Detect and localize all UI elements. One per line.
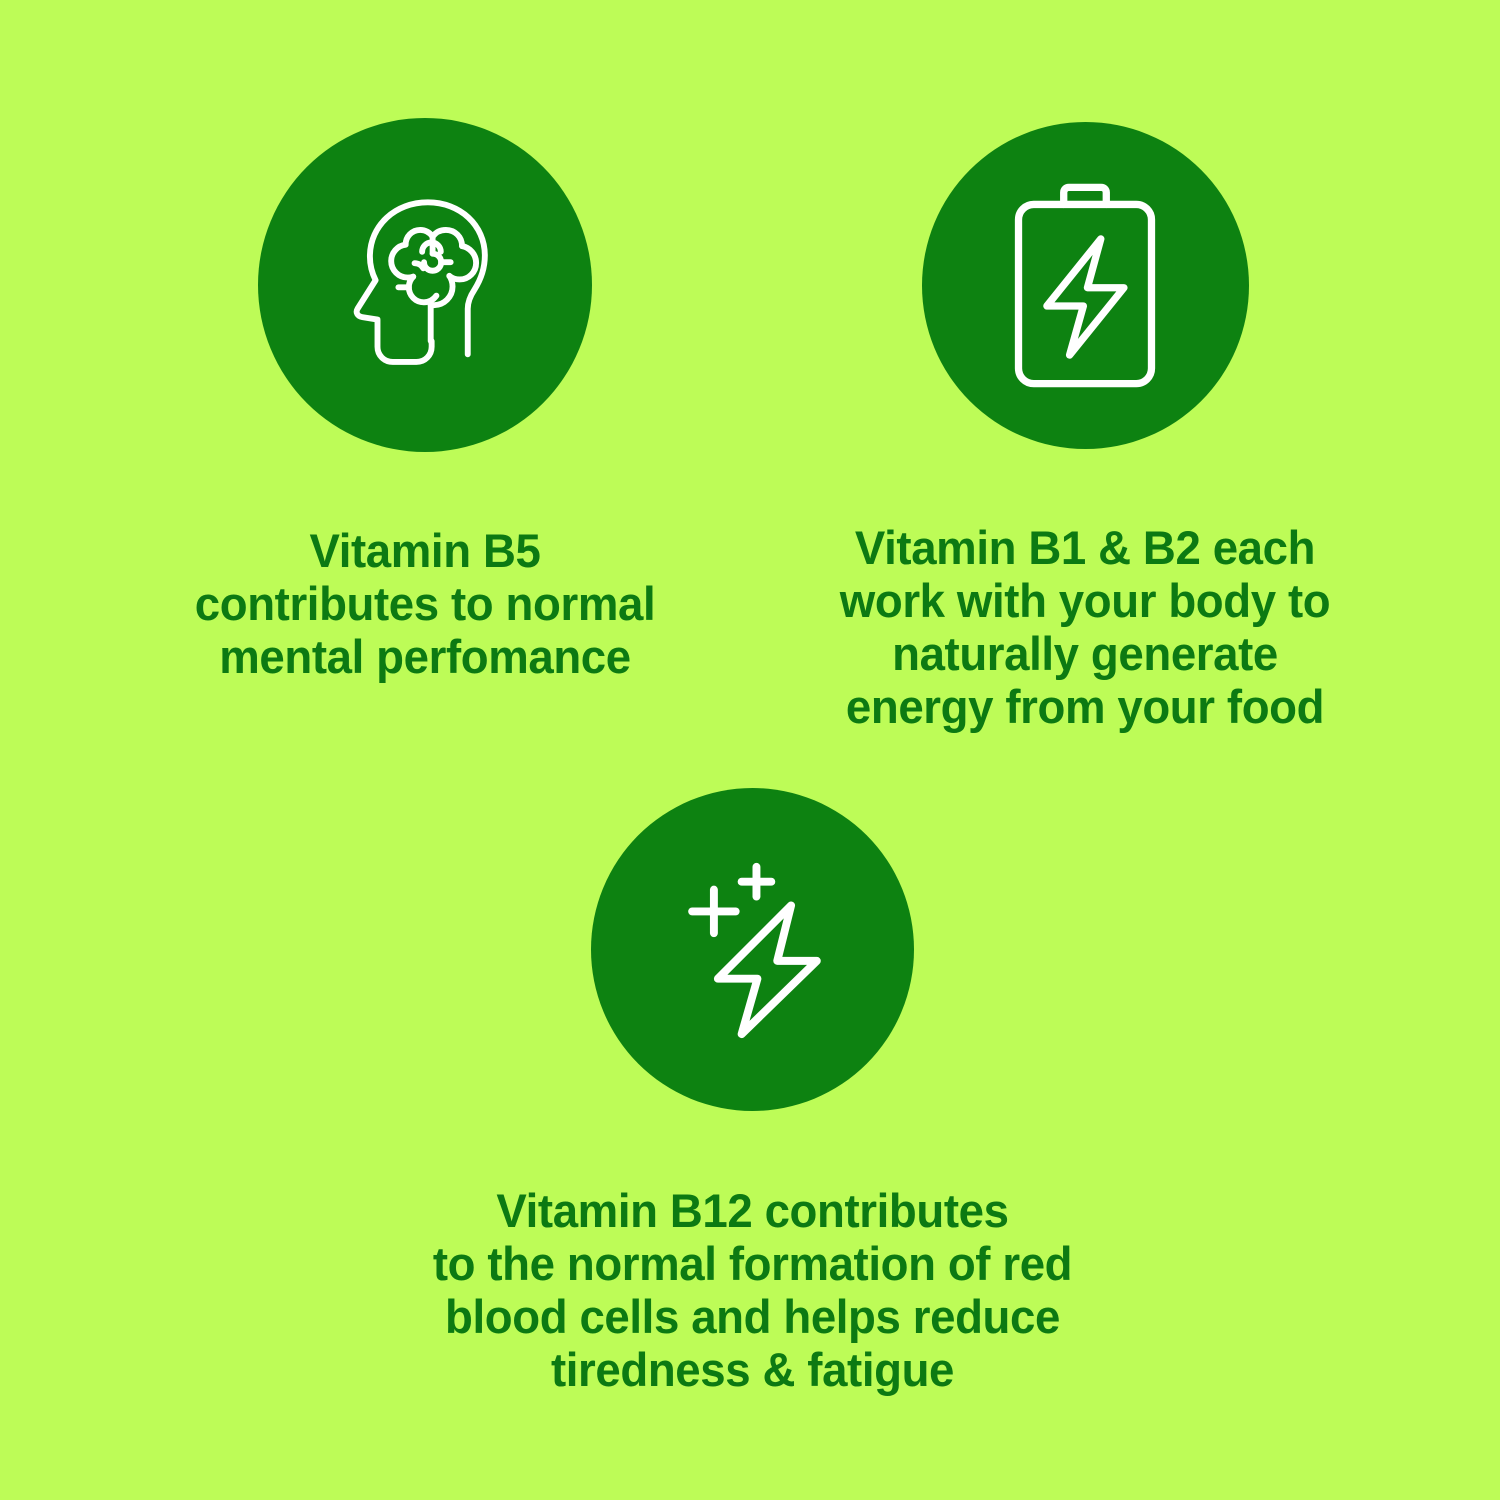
head-brain-icon xyxy=(330,190,520,380)
benefit-text-vitamin-b12: Vitamin B12 contributes to the normal fo… xyxy=(396,1184,1109,1396)
icon-circle-vitamin-b5 xyxy=(258,118,592,452)
benefit-card-vitamin-b1-b2: Vitamin B1 & B2 each work with your body… xyxy=(720,122,1450,733)
benefit-card-vitamin-b5: Vitamin B5 contributes to normal mental … xyxy=(60,118,790,683)
icon-circle-vitamin-b12 xyxy=(591,788,914,1111)
lightning-bolt-sparkle-icon xyxy=(665,855,840,1045)
benefit-card-vitamin-b12: Vitamin B12 contributes to the normal fo… xyxy=(385,788,1120,1396)
battery-charging-icon xyxy=(1010,183,1160,388)
infographic-page: Vitamin B5 contributes to normal mental … xyxy=(0,0,1500,1500)
icon-circle-vitamin-b1-b2 xyxy=(922,122,1249,449)
benefit-text-vitamin-b5: Vitamin B5 contributes to normal mental … xyxy=(71,524,779,683)
benefit-text-vitamin-b1-b2: Vitamin B1 & B2 each work with your body… xyxy=(731,521,1439,733)
